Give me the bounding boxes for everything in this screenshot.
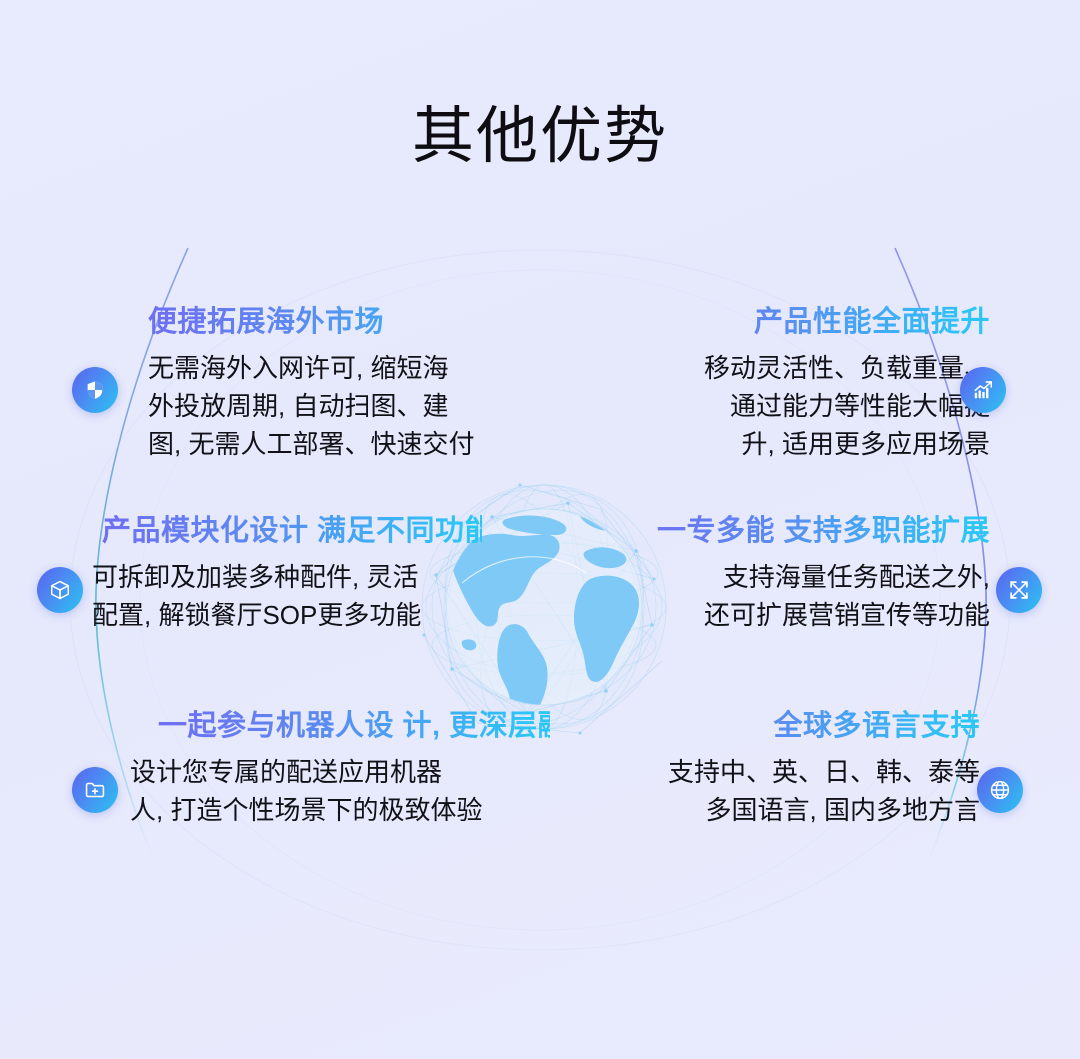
badge-product-performance <box>960 367 1006 413</box>
feature-body: 设计您专属的配送应用机器 人, 打造个性场景下的极致体验 <box>130 754 550 829</box>
feature-block-overseas-market: 便捷拓展海外市场 无需海外入网许可, 缩短海 外投放周期, 自动扫图、建 图, … <box>120 303 510 463</box>
feature-body: 可拆卸及加装多种配件, 灵活 配置, 解锁餐厅SOP更多功能 <box>92 559 482 634</box>
infographic-canvas: 其他优势 <box>0 0 1080 1059</box>
globe-icon <box>989 779 1011 801</box>
feature-block-co-design: 一起参与机器人设 计, 更深层融入场景 设计您专属的配送应用机器 人, 打造个性… <box>120 707 550 830</box>
feature-body: 支持海量任务配送之外, 还可扩展营销宣传等功能 <box>620 559 990 634</box>
badge-multi-language <box>977 767 1023 813</box>
feature-block-multi-language: 全球多语言支持 支持中、英、日、韩、泰等 多国语言, 国内多地方言 <box>620 707 980 830</box>
feature-title: 一专多能 支持多职能扩展 <box>620 512 990 550</box>
feature-body: 无需海外入网许可, 缩短海 外投放周期, 自动扫图、建 图, 无需人工部署、快速… <box>148 350 510 463</box>
expand-arrows-icon <box>1008 579 1030 601</box>
badge-co-design <box>72 767 118 813</box>
badge-overseas-market <box>72 367 118 413</box>
feature-title: 一起参与机器人设 计, 更深层融入场景 <box>158 707 550 745</box>
badge-multi-function <box>996 567 1042 613</box>
page-title: 其他优势 <box>0 106 1080 168</box>
cube-icon <box>49 579 71 601</box>
feature-block-multi-function: 一专多能 支持多职能扩展 支持海量任务配送之外, 还可扩展营销宣传等功能 <box>620 512 990 635</box>
feature-title: 全球多语言支持 <box>620 707 980 745</box>
badge-modular-design <box>37 567 83 613</box>
feature-title: 便捷拓展海外市场 <box>148 303 510 341</box>
chart-growth-icon <box>972 379 994 401</box>
feature-block-modular-design: 产品模块化设计 满足不同功能需求 可拆卸及加装多种配件, 灵活 配置, 解锁餐厅… <box>92 512 482 635</box>
shield-icon <box>84 379 106 401</box>
feature-title: 产品模块化设计 满足不同功能需求 <box>102 512 482 550</box>
feature-body: 移动灵活性、负载重量、 通过能力等性能大幅提 升, 适用更多应用场景 <box>620 350 990 463</box>
feature-title: 产品性能全面提升 <box>620 303 990 341</box>
folder-plus-icon <box>84 779 106 801</box>
feature-body: 支持中、英、日、韩、泰等 多国语言, 国内多地方言 <box>620 754 980 829</box>
feature-block-product-performance: 产品性能全面提升 移动灵活性、负载重量、 通过能力等性能大幅提 升, 适用更多应… <box>620 303 990 463</box>
